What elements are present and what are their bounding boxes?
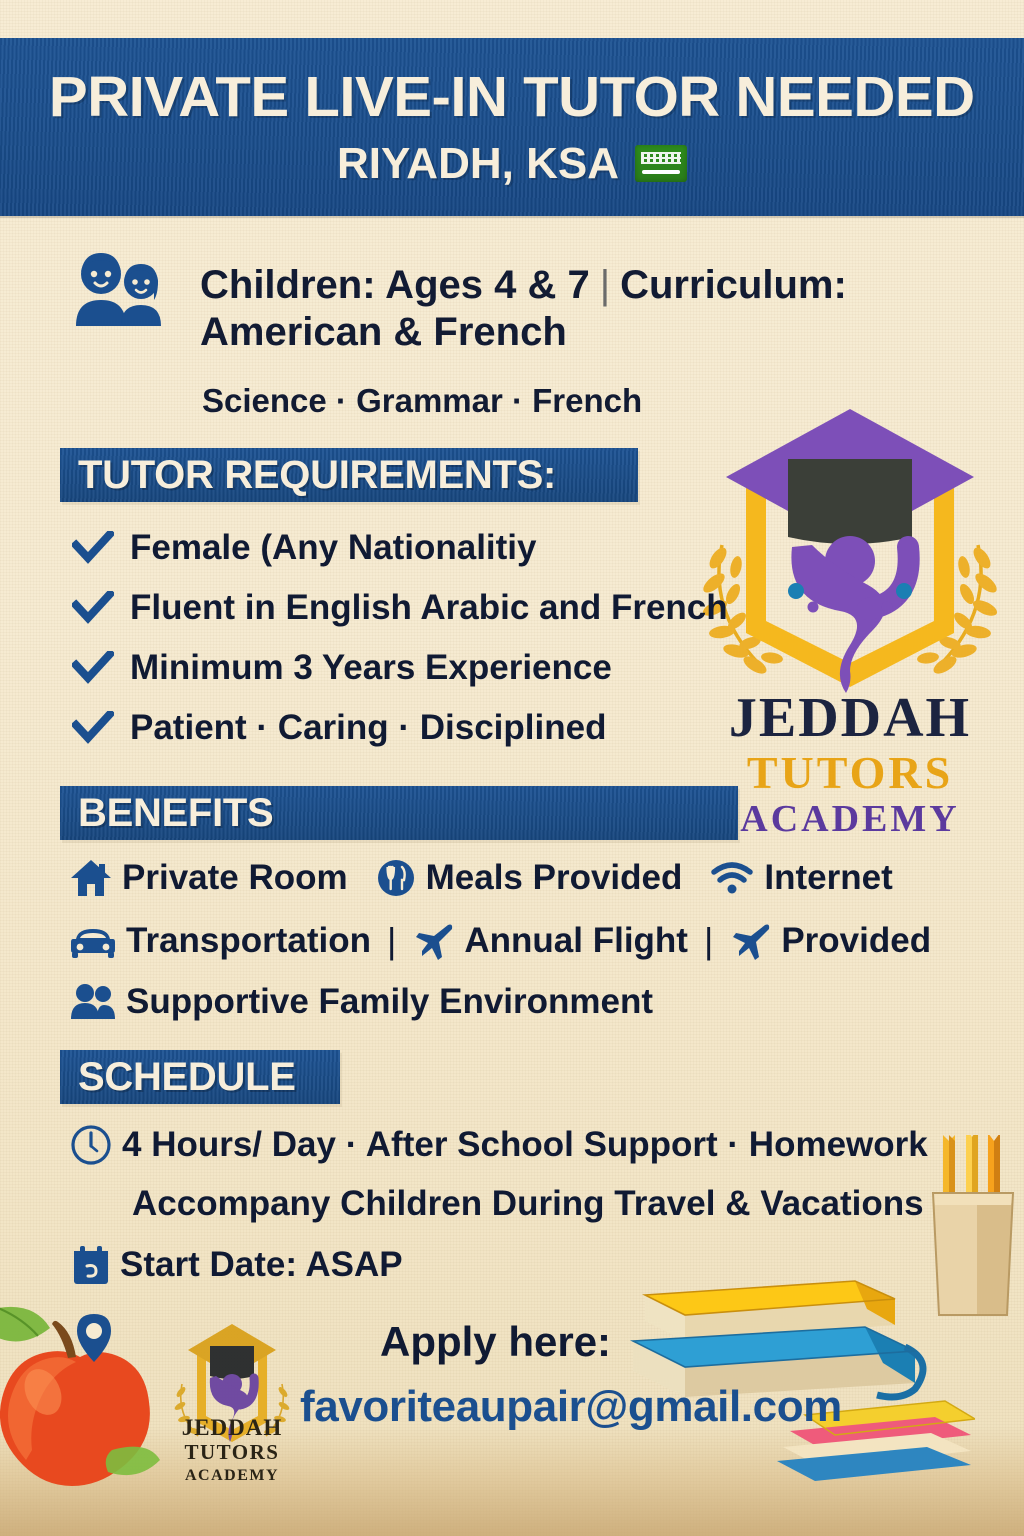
intro-divider: | xyxy=(590,263,620,307)
benefits-row-2: Transportation | Annual Flight | Provide… xyxy=(70,920,931,962)
schedule-hours-row: 4 Hours/ Day · After School Support · Ho… xyxy=(70,1124,928,1166)
curriculum-value: American & French xyxy=(200,310,567,354)
benefit-label: Annual Flight xyxy=(464,921,688,961)
check-icon xyxy=(72,711,114,745)
curriculum-label: Curriculum: xyxy=(620,263,847,307)
logo-small-academy: ACADEMY xyxy=(172,1468,292,1484)
page-title: PRIVATE LIVE-IN TUTOR NEEDED xyxy=(49,69,975,126)
benefit-label: Provided xyxy=(781,921,931,961)
logo-name-academy: ACADEMY xyxy=(700,800,1000,838)
apply-here-label: Apply here: xyxy=(380,1318,611,1366)
home-icon xyxy=(70,858,112,898)
requirement-item-4: Patient · Caring · Disciplined xyxy=(72,708,606,748)
tutor-requirements-label: TUTOR REQUIREMENTS: xyxy=(60,453,556,498)
benefits-separator-1: | xyxy=(381,920,402,962)
benefits-row-1: Private Room Meals Provided Internet xyxy=(70,858,893,898)
benefit-label: Internet xyxy=(764,858,892,898)
requirement-item-1: Female (Any Nationalitiy xyxy=(72,528,536,568)
requirement-label: Female (Any Nationalitiy xyxy=(130,528,536,568)
location-title: RIYADH, KSA xyxy=(337,142,619,186)
airplane-icon xyxy=(412,921,454,961)
calendar-icon xyxy=(72,1244,110,1286)
requirement-label: Patient · Caring · Disciplined xyxy=(130,708,606,748)
benefits-row-3: Supportive Family Environment xyxy=(70,982,653,1022)
people-icon xyxy=(70,983,116,1021)
schedule-hours-text: 4 Hours/ Day · After School Support · Ho… xyxy=(122,1125,928,1165)
logo-name-tutors: TUTORS xyxy=(700,750,1000,796)
requirement-item-2: Fluent in English Arabic and French xyxy=(72,588,728,628)
logo-small-jeddah: JEDDAH xyxy=(172,1416,292,1439)
car-icon xyxy=(70,923,116,959)
requirement-label: Fluent in English Arabic and French xyxy=(130,588,728,628)
schedule-start-text: Start Date: ASAP xyxy=(120,1245,403,1285)
children-ages-text: Children: Ages 4 & 7 xyxy=(200,263,590,307)
airplane-icon xyxy=(729,921,771,961)
application-email[interactable]: favoriteaupair@gmail.com xyxy=(300,1382,842,1432)
logo-small-tutors: TUTORS xyxy=(172,1442,292,1463)
benefits-label: BENEFITS xyxy=(60,791,273,836)
benefit-label: Supportive Family Environment xyxy=(126,982,653,1022)
location-pin-icon xyxy=(74,1312,114,1364)
schedule-start-row: Start Date: ASAP xyxy=(72,1244,403,1286)
schedule-label: SCHEDULE xyxy=(60,1055,296,1100)
tutor-requirements-band: TUTOR REQUIREMENTS: xyxy=(60,448,638,502)
poster: PRIVATE LIVE-IN TUTOR NEEDED RIYADH, KSA… xyxy=(0,0,1024,1536)
saudi-arabia-flag-icon xyxy=(635,145,687,182)
benefits-separator-2: | xyxy=(698,920,719,962)
books-illustration xyxy=(615,1255,975,1485)
schedule-band: SCHEDULE xyxy=(60,1050,340,1104)
subjects-text: Science · Grammar · French xyxy=(202,382,642,420)
requirement-item-3: Minimum 3 Years Experience xyxy=(72,648,612,688)
requirement-label: Minimum 3 Years Experience xyxy=(130,648,612,688)
clock-icon xyxy=(70,1124,112,1166)
wifi-icon xyxy=(710,860,754,896)
schedule-travel-text: Accompany Children During Travel & Vacat… xyxy=(132,1184,924,1224)
poster-header: PRIVATE LIVE-IN TUTOR NEEDED RIYADH, KSA xyxy=(0,38,1024,216)
two-children-icon xyxy=(70,248,170,326)
meals-icon xyxy=(376,858,416,898)
check-icon xyxy=(72,591,114,625)
logo-name-jeddah: JEDDAH xyxy=(700,690,1000,746)
benefit-label: Meals Provided xyxy=(426,858,683,898)
intro-heading: Children: Ages 4 & 7|Curriculum: America… xyxy=(200,262,920,356)
check-icon xyxy=(72,651,114,685)
check-icon xyxy=(72,531,114,565)
benefits-band: BENEFITS xyxy=(60,786,738,840)
benefit-label: Transportation xyxy=(126,921,371,961)
laurel-leaves-right xyxy=(916,545,999,677)
benefit-label: Private Room xyxy=(122,858,348,898)
